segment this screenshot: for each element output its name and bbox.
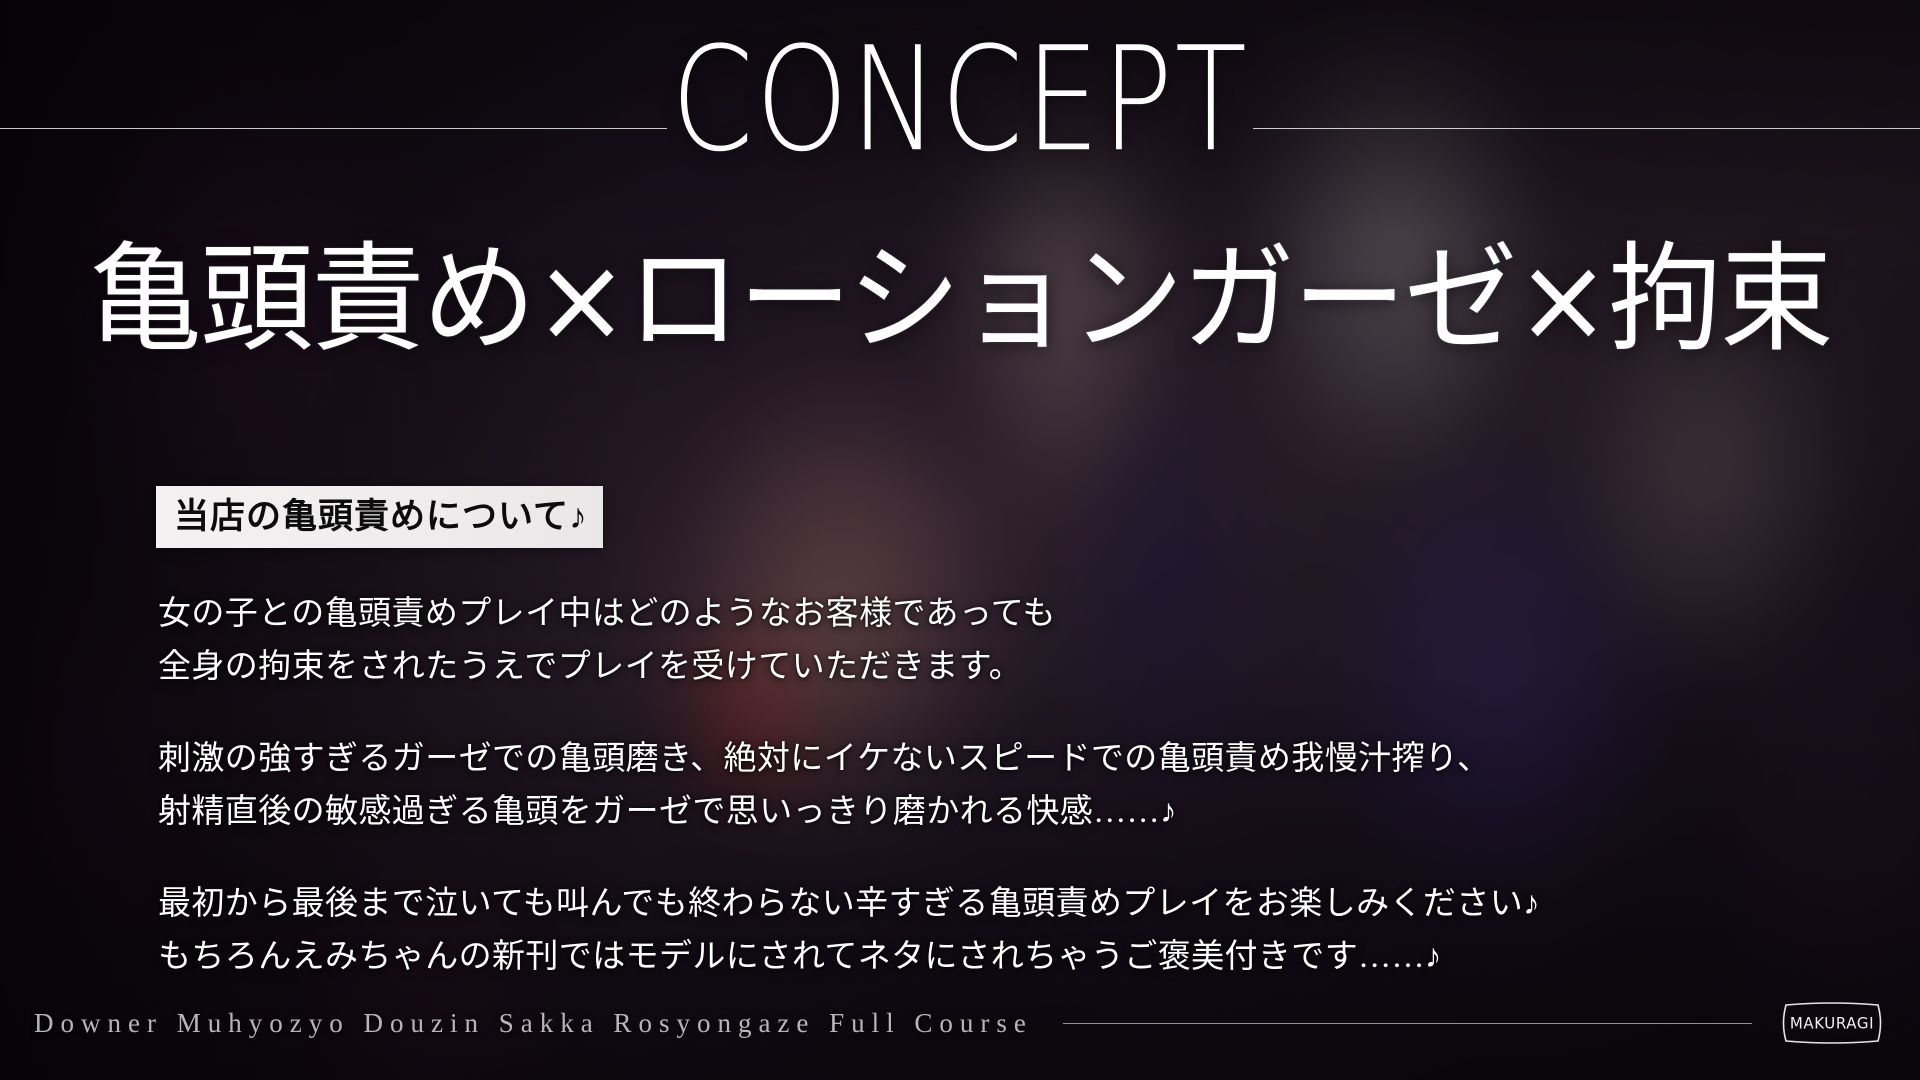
page-title: CONCEPT	[667, 27, 1253, 198]
brand-name: MAKURAGI	[1790, 1015, 1874, 1031]
paragraph: 刺激の強すぎるガーゼでの亀頭磨き、絶対にイケないスピードでの亀頭責め我慢汁搾り、…	[158, 733, 1718, 840]
heading-rule-right	[1253, 128, 1920, 129]
concept-tagline: 亀頭責め×ローションガーゼ×拘束	[38, 236, 1881, 363]
paragraph: 最初から最後まで泣いても叫んでも終わらない辛すぎる亀頭責めプレイをお楽しみくださ…	[158, 878, 1718, 985]
slide-content: CONCEPT 亀頭責め×ローションガーゼ×拘束 当店の亀頭責めについて♪ 女の…	[0, 0, 1920, 1080]
section-label-badge: 当店の亀頭責めについて♪	[156, 486, 603, 548]
heading-rule-left	[0, 128, 667, 129]
paragraph-line: 刺激の強すぎるガーゼでの亀頭磨き、絶対にイケないスピードでの亀頭責め我慢汁搾り、	[158, 733, 1718, 786]
paragraph-line: 女の子との亀頭責めプレイ中はどのようなお客様であっても	[158, 588, 1718, 641]
paragraph-line: もちろんえみちゃんの新刊ではモデルにされてネタにされちゃうご褒美付きです……♪	[158, 931, 1718, 984]
section-heading: CONCEPT	[0, 58, 1920, 198]
body-copy: 女の子との亀頭責めプレイ中はどのようなお客様であっても 全身の拘束をされたうえで…	[158, 588, 1718, 985]
slide-canvas: CONCEPT 亀頭責め×ローションガーゼ×拘束 当店の亀頭責めについて♪ 女の…	[0, 0, 1920, 1080]
footer: Downer Muhyozyo Douzin Sakka Rosyongaze …	[0, 992, 1920, 1054]
paragraph-line: 最初から最後まで泣いても叫んでも終わらない辛すぎる亀頭責めプレイをお楽しみくださ…	[158, 878, 1718, 931]
brand-logo: MAKURAGI	[1778, 999, 1886, 1047]
paragraph-line: 射精直後の敏感過ぎる亀頭をガーゼで思いっきり磨かれる快感……♪	[158, 786, 1718, 839]
footer-rule	[1063, 1023, 1752, 1024]
footer-romaji-subtitle: Downer Muhyozyo Douzin Sakka Rosyongaze …	[34, 1008, 1033, 1039]
paragraph: 女の子との亀頭責めプレイ中はどのようなお客様であっても 全身の拘束をされたうえで…	[158, 588, 1718, 695]
paragraph-line: 全身の拘束をされたうえでプレイを受けていただきます。	[158, 641, 1718, 694]
